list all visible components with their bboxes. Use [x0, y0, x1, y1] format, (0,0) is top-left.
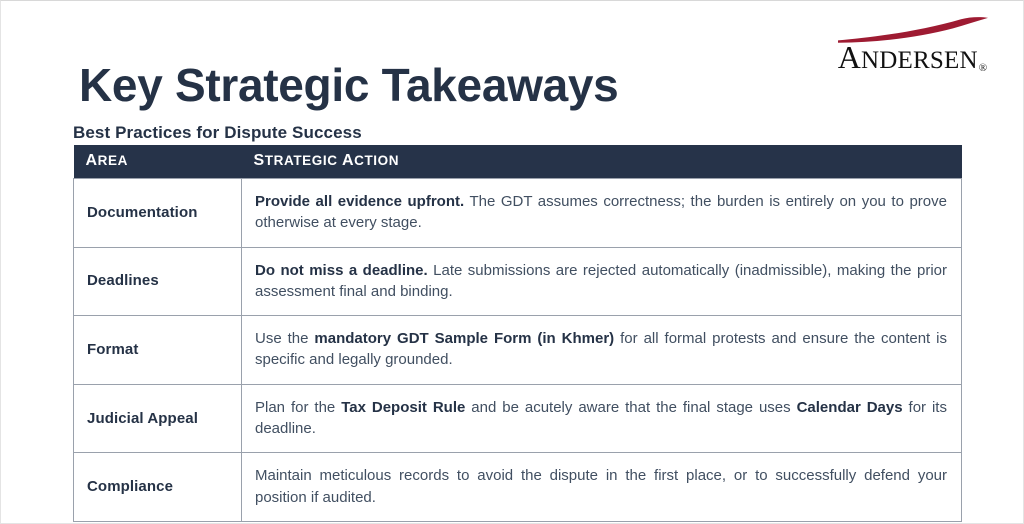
cell-strategic-action: Provide all evidence upfront. The GDT as… — [242, 179, 962, 248]
cell-strategic-action: Maintain meticulous records to avoid the… — [242, 453, 962, 522]
table-row: Compliance Maintain meticulous records t… — [74, 453, 962, 522]
registered-trademark-icon: ® — [979, 62, 988, 74]
table-header: Area Strategic Action — [74, 145, 962, 179]
column-header-action-rest: trategic — [265, 153, 342, 168]
cell-area: Compliance — [74, 453, 242, 522]
slide-canvas: ANDERSEN® Key Strategic Takeaways Best P… — [0, 0, 1024, 524]
cell-action-prefix: Maintain meticulous records to avoid the… — [255, 467, 947, 505]
cell-area: Documentation — [74, 179, 242, 248]
cell-action-emphasis: Do not miss a deadline. — [255, 262, 428, 279]
column-header-action-initial: S — [254, 152, 265, 169]
cell-action-prefix: Use the — [255, 330, 314, 347]
cell-action-emphasis: Tax Deposit Rule — [341, 399, 465, 416]
logo-wordmark-rest: NDERSEN — [861, 47, 978, 74]
table-header-row: Area Strategic Action — [74, 145, 962, 179]
logo-wordmark-initial: A — [838, 39, 861, 75]
cell-strategic-action: Use the mandatory GDT Sample Form (in Kh… — [242, 316, 962, 385]
column-header-area-initial: A — [86, 152, 98, 169]
table-row: Deadlines Do not miss a deadline. Late s… — [74, 247, 962, 316]
cell-area: Deadlines — [74, 247, 242, 316]
takeaways-table: Area Strategic Action Documentation Prov… — [73, 145, 962, 522]
cell-area: Format — [74, 316, 242, 385]
logo-wordmark: ANDERSEN® — [823, 41, 1001, 74]
cell-action-prefix: Plan for the — [255, 399, 341, 416]
takeaways-table-wrapper: Area Strategic Action Documentation Prov… — [73, 145, 961, 522]
andersen-logo: ANDERSEN® — [823, 15, 1001, 77]
page-subtitle: Best Practices for Dispute Success — [73, 123, 362, 143]
column-header-strategic-action: Strategic Action — [242, 145, 962, 179]
column-header-action-initial2: A — [342, 152, 354, 169]
table-row: Judicial Appeal Plan for the Tax Deposit… — [74, 384, 962, 453]
cell-action-emphasis: Provide all evidence upfront. — [255, 193, 464, 210]
cell-area: Judicial Appeal — [74, 384, 242, 453]
cell-action-emphasis: mandatory GDT Sample Form (in Khmer) — [314, 330, 614, 347]
column-header-area: Area — [74, 145, 242, 179]
cell-strategic-action: Do not miss a deadline. Late submissions… — [242, 247, 962, 316]
table-body: Documentation Provide all evidence upfro… — [74, 179, 962, 522]
cell-action-middle: and be acutely aware that the final stag… — [465, 399, 796, 416]
page-title: Key Strategic Takeaways — [79, 60, 618, 111]
column-header-area-rest: rea — [98, 153, 128, 168]
cell-action-emphasis-2: Calendar Days — [797, 399, 903, 416]
table-row: Documentation Provide all evidence upfro… — [74, 179, 962, 248]
column-header-action-rest2: ction — [354, 153, 399, 168]
table-row: Format Use the mandatory GDT Sample Form… — [74, 316, 962, 385]
cell-strategic-action: Plan for the Tax Deposit Rule and be acu… — [242, 384, 962, 453]
